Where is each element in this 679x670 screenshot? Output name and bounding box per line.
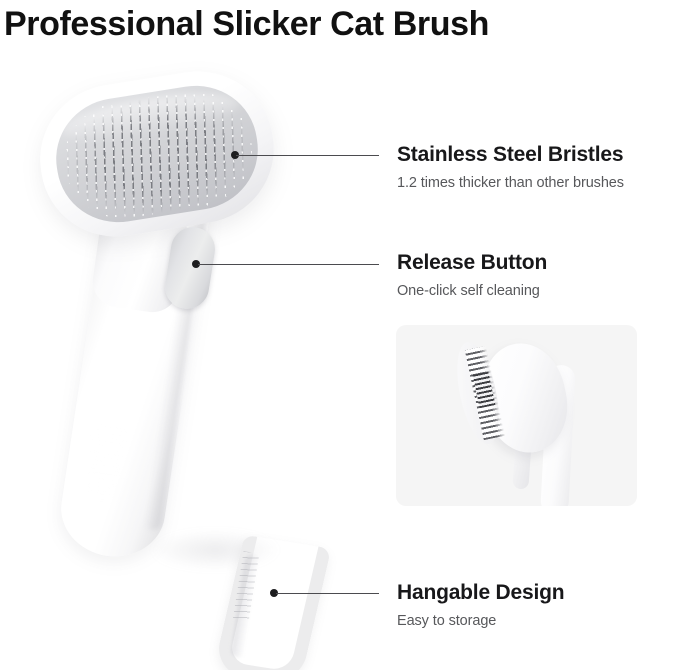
leader-line-hangable bbox=[276, 593, 379, 595]
product-infographic: Professional Slicker Cat Brush Stainless… bbox=[0, 0, 679, 670]
callout-hangable-subtitle: Easy to storage bbox=[397, 610, 679, 632]
callout-hangable-title: Hangable Design bbox=[397, 580, 679, 606]
callout-bristles-subtitle: 1.2 times thicker than other brushes bbox=[397, 172, 679, 194]
callout-bristles: Stainless Steel Bristles 1.2 times thick… bbox=[397, 142, 679, 194]
product-illustration bbox=[0, 60, 390, 670]
callout-hangable: Hangable Design Easy to storage bbox=[397, 580, 679, 632]
inset-detail-panel bbox=[396, 325, 637, 506]
bristle-tips bbox=[56, 83, 260, 227]
callout-release-title: Release Button bbox=[397, 250, 679, 276]
page-title: Professional Slicker Cat Brush bbox=[4, 2, 489, 46]
leader-line-bristles bbox=[236, 155, 379, 157]
callout-release-subtitle: One-click self cleaning bbox=[397, 280, 679, 302]
callout-bristles-title: Stainless Steel Bristles bbox=[397, 142, 679, 168]
leader-line-release bbox=[198, 264, 379, 266]
callout-release: Release Button One-click self cleaning bbox=[397, 250, 679, 302]
